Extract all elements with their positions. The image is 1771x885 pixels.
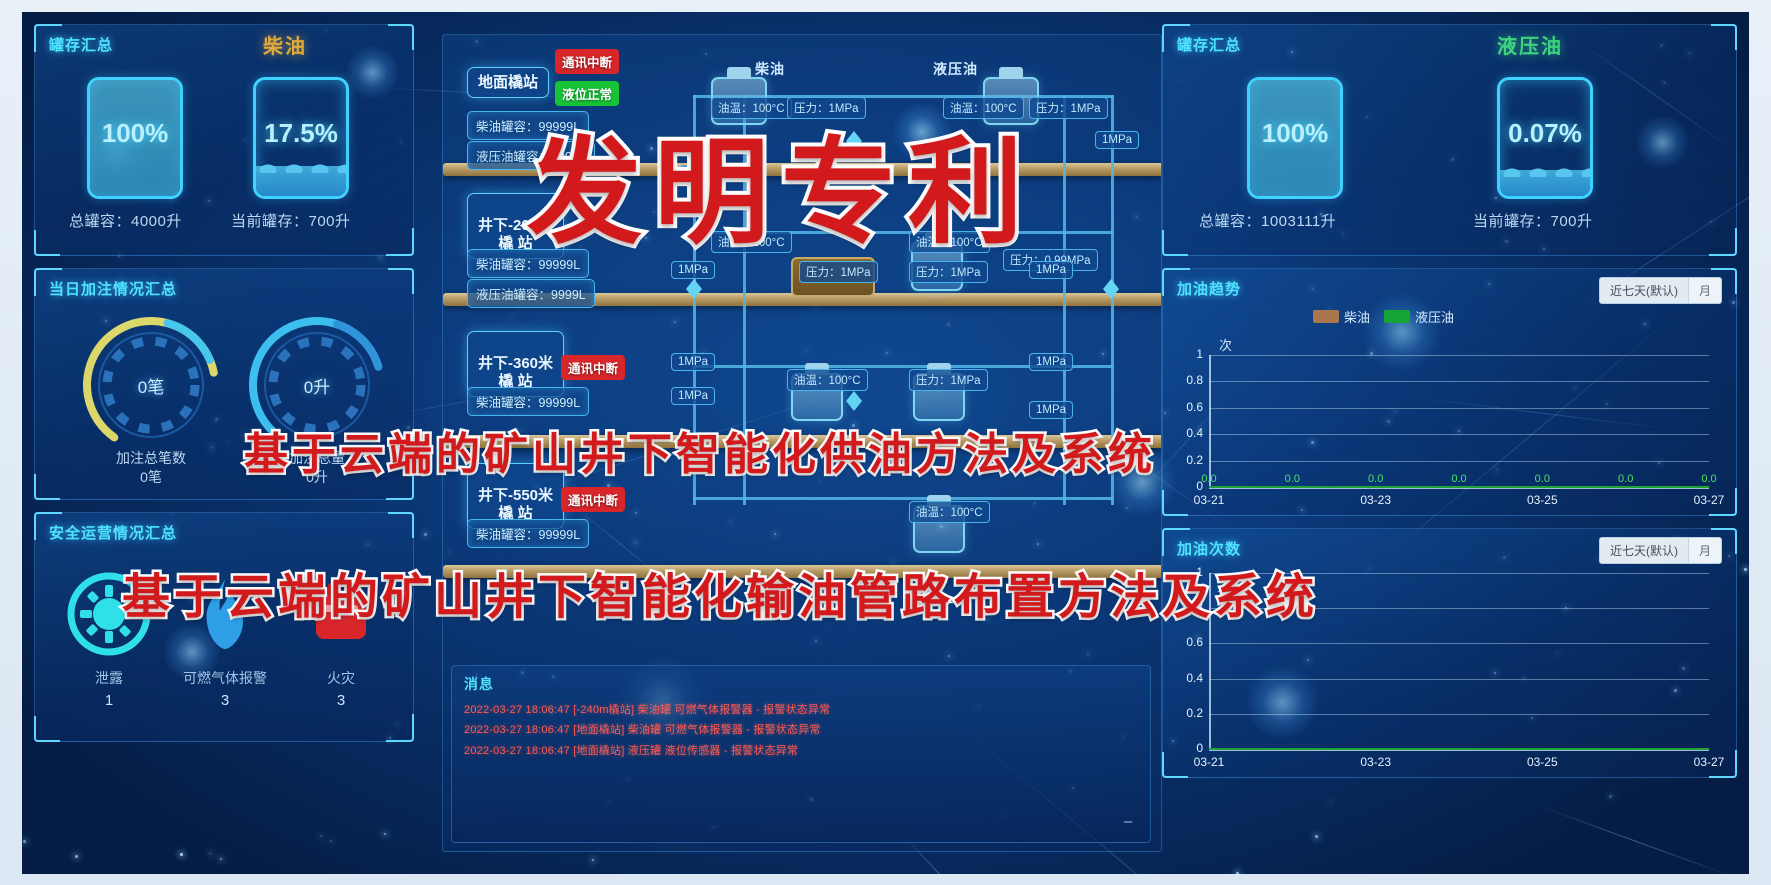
- chart-gridline: [1209, 714, 1709, 715]
- message-log-title: 消息: [464, 674, 1138, 694]
- station-badge-550m-comms: 通讯中断: [561, 487, 625, 512]
- chart-gridline: [1209, 355, 1709, 356]
- gauge-caption-daily-count: 加注总笔数 0笔: [66, 449, 236, 487]
- station-badge-surface-comms: 通讯中断: [555, 49, 619, 74]
- pressure-tag: 1MPa: [671, 387, 715, 405]
- pressure-tag-text: 1MPa: [1102, 134, 1132, 146]
- legend-entry-hydraulic: 液压油: [1384, 307, 1454, 326]
- dashboard-root: 罐存汇总 柴油 100% 总罐容：4000升 17.5% 当前罐存：700升 当…: [22, 12, 1749, 874]
- message-log-row: 2022-03-27 18:06:47 [-240m橇站] 柴油罐 可燃气体报警…: [464, 700, 1138, 720]
- vessel-tag: 油温：100°C: [909, 501, 990, 523]
- chart-point-label: 0.0: [1276, 473, 1308, 485]
- station-badge-surface-comms-text: 通讯中断: [562, 56, 612, 70]
- tank-percent-total-right: 100%: [1250, 118, 1340, 149]
- panel-tank-summary-diesel: 罐存汇总 柴油 100% 总罐容：4000升 17.5% 当前罐存：700升: [34, 24, 414, 256]
- panel-title-safety: 安全运营情况汇总: [49, 522, 177, 543]
- panel-title-tank-summary-left: 罐存汇总: [49, 34, 113, 55]
- chart-legend-trend: 柴油 液压油: [1313, 307, 1454, 326]
- safety-label-gas-alarm: 可燃气体报警: [165, 668, 285, 688]
- vessel-tag-text: 压力：1MPa: [1036, 103, 1101, 115]
- chart-series-line: [1209, 748, 1709, 750]
- chart-x-tick-label: 03-21: [1183, 755, 1235, 769]
- tank-caption-total-left: 总罐容：4000升: [69, 210, 182, 231]
- vessel-cap: [727, 67, 751, 79]
- station-badge-360m-comms-text: 通讯中断: [568, 362, 618, 376]
- range-button-month-count[interactable]: 月: [1688, 538, 1721, 563]
- panel-safety-summary: 安全运营情况汇总 泄露 1: [34, 512, 414, 742]
- safety-label-leak: 泄露: [49, 668, 169, 688]
- gauge-daily-count: 0笔: [77, 311, 225, 459]
- station-name-surface-text: 地面橇站: [478, 74, 538, 91]
- station-readout-200m-hydraulic-text: 液压油罐容：9999L: [476, 288, 586, 302]
- chart-point-label: 0.0: [1610, 473, 1642, 485]
- chart-y-tick-label: 0.6: [1171, 400, 1203, 414]
- chart-y-tick-label: 0.8: [1171, 373, 1203, 387]
- panel-product-label-hydraulic: 液压油: [1497, 30, 1563, 59]
- chart-point-label: 0.0: [1443, 473, 1475, 485]
- tank-caption-total-right: 总罐容：1003111升: [1199, 210, 1336, 231]
- chart-y-tick-label: 0.2: [1171, 706, 1203, 720]
- range-button-seven-days-trend[interactable]: 近七天(默认): [1600, 278, 1688, 303]
- panel-title-refuel-count: 加油次数: [1177, 538, 1241, 559]
- legend-label-hydraulic: 液压油: [1415, 310, 1454, 325]
- pressure-tag-text: 1MPa: [1036, 404, 1066, 416]
- chart-x-tick-label: 03-25: [1516, 493, 1568, 507]
- station-badge-550m-comms-text: 通讯中断: [568, 494, 618, 508]
- gauge-caption-daily-count-line2: 0笔: [140, 469, 162, 485]
- screen-frame: 罐存汇总 柴油 100% 总罐容：4000升 17.5% 当前罐存：700升 当…: [0, 0, 1771, 885]
- chart-plot-area-trend: 00.20.40.60.810.003-210.00.003-230.00.00…: [1209, 355, 1709, 487]
- watermark-main: 发明专利: [527, 100, 1035, 266]
- watermark-patent-title-2: 基于云端的矿山井下智能化输油管路布置方法及系统: [122, 557, 1318, 627]
- pressure-tag: 1MPa: [1029, 261, 1073, 279]
- range-button-month-trend[interactable]: 月: [1688, 278, 1721, 303]
- gauge-value-daily-count: 0笔: [77, 373, 225, 398]
- chart-point-label: 0.0: [1360, 473, 1392, 485]
- range-selector-trend[interactable]: 近七天(默认) 月: [1599, 277, 1722, 304]
- pressure-tag: 1MPa: [1095, 131, 1139, 149]
- vessel-tag: 压力：1MPa: [1029, 97, 1108, 119]
- station-name-360m-text: 井下-360米 橇 站: [478, 355, 553, 389]
- tank-percent-current-left: 17.5%: [256, 118, 346, 149]
- chart-x-tick-label: 03-27: [1683, 493, 1735, 507]
- message-log-row: 2022-03-27 18:06:47 [地面橇站] 柴油罐 可燃气体报警器 -…: [464, 720, 1138, 740]
- vessel-tag: 油温：100°C: [787, 369, 868, 391]
- panel-tank-summary-hydraulic: 罐存汇总 液压油 100% 总罐容：1003111升 0.07% 当前罐存：70…: [1162, 24, 1737, 256]
- vessel-tag-text: 压力：1MPa: [806, 267, 871, 279]
- tank-gauge-current-right: 0.07%: [1497, 77, 1593, 199]
- chart-gridline: [1209, 461, 1709, 462]
- station-badge-360m-comms: 通讯中断: [561, 355, 625, 380]
- pressure-tag-text: 1MPa: [1036, 264, 1066, 276]
- chart-gridline: [1209, 434, 1709, 435]
- chart-y-unit-trend: 次: [1219, 335, 1232, 354]
- pressure-tag: 1MPa: [671, 353, 715, 371]
- chart-point-label: 0.0: [1526, 473, 1558, 485]
- vessel-tag-text: 油温：100°C: [916, 507, 983, 519]
- tank-gauge-current-left: 17.5%: [253, 77, 349, 199]
- station-readout-550m-diesel-text: 柴油罐容：99999L: [476, 528, 580, 542]
- panel-product-label-diesel: 柴油: [263, 30, 307, 59]
- chart-x-tick-label: 03-25: [1516, 755, 1568, 769]
- vessel-tag-text: 压力：1MPa: [916, 267, 981, 279]
- range-selector-count[interactable]: 近七天(默认) 月: [1599, 537, 1722, 564]
- chart-y-tick-label: 0.4: [1171, 671, 1203, 685]
- panel-title-daily-fill: 当日加注情况汇总: [49, 278, 177, 299]
- tank-fill-current-right: [1500, 170, 1590, 196]
- safety-label-fire: 火灾: [281, 668, 401, 688]
- chart-point-label: 0.0: [1193, 473, 1225, 485]
- chart-x-tick-label: 03-27: [1683, 755, 1735, 769]
- watermark-patent-title-1: 基于云端的矿山井下智能化供油方法及系统: [244, 418, 1156, 482]
- station-readout-200m-hydraulic: 液压油罐容：9999L: [467, 279, 595, 308]
- chart-gridline: [1209, 408, 1709, 409]
- station-name-550m-text: 井下-550米 橇 站: [478, 487, 553, 521]
- chart-y-axis: [1209, 355, 1211, 487]
- station-readout-550m-diesel: 柴油罐容：99999L: [467, 519, 589, 548]
- legend-swatch-hydraulic: [1384, 310, 1410, 323]
- chart-y-tick-label: 0: [1171, 741, 1203, 755]
- pressure-tag: 1MPa: [1029, 401, 1073, 419]
- station-readout-360m-diesel: 柴油罐容：99999L: [467, 387, 589, 416]
- message-log-row: 2022-03-27 18:06:47 [地面橇站] 液压罐 液位传感器 - 报…: [464, 741, 1138, 761]
- chart-y-tick-label: 1: [1171, 347, 1203, 361]
- tank-gauge-total-left: 100%: [87, 77, 183, 199]
- tank-fill-current-left: [256, 166, 346, 196]
- pressure-tag-text: 1MPa: [1036, 356, 1066, 368]
- tank-wave-current-right: [1500, 163, 1593, 177]
- station-name-surface[interactable]: 地面橇站: [467, 67, 549, 98]
- tank-caption-current-left: 当前罐存：700升: [231, 210, 351, 231]
- tank-caption-current-right: 当前罐存：700升: [1473, 210, 1593, 231]
- diagram-product-label-hydraulic: 液压油: [933, 59, 978, 79]
- chart-x-tick-label: 03-23: [1350, 493, 1402, 507]
- chart-gridline: [1209, 381, 1709, 382]
- chart-gridline: [1209, 643, 1709, 644]
- message-log-panel: 消息 2022-03-27 18:06:47 [-240m橇站] 柴油罐 可燃气…: [451, 665, 1151, 843]
- chart-gridline: [1209, 679, 1709, 680]
- panel-title-tank-summary-right: 罐存汇总: [1177, 34, 1241, 55]
- station-readout-360m-diesel-text: 柴油罐容：99999L: [476, 396, 580, 410]
- diagram-product-label-diesel: 柴油: [755, 59, 785, 79]
- gauge-caption-daily-count-line1: 加注总笔数: [116, 450, 186, 466]
- legend-entry-diesel: 柴油: [1313, 307, 1370, 326]
- pipe-segment: [693, 497, 1113, 500]
- chart-x-tick-label: 03-23: [1350, 755, 1402, 769]
- legend-swatch-diesel: [1313, 310, 1339, 323]
- vessel-tag-text: 油温：100°C: [794, 375, 861, 387]
- panel-refuel-trend-chart: 加油趋势 近七天(默认) 月 柴油 液压油 次 00.20.40.60.810.…: [1162, 268, 1737, 516]
- tank-wave-current-left: [256, 159, 349, 173]
- tank-percent-current-right: 0.07%: [1500, 118, 1590, 149]
- safety-value-fire: 3: [281, 692, 401, 709]
- chart-x-tick-label: 03-21: [1183, 493, 1235, 507]
- safety-value-gas-alarm: 3: [165, 692, 285, 709]
- vessel-tag: 压力：1MPa: [909, 369, 988, 391]
- vessel-cap: [999, 67, 1023, 79]
- tank-gauge-total-right: 100%: [1247, 77, 1343, 199]
- gauge-value-daily-volume: 0升: [243, 373, 391, 398]
- vessel-tag-text: 压力：1MPa: [916, 375, 981, 387]
- chart-series-line: [1209, 486, 1709, 488]
- pressure-tag-text: 1MPa: [678, 390, 708, 402]
- chart-y-tick-label: 0.4: [1171, 426, 1203, 440]
- legend-label-diesel: 柴油: [1344, 310, 1370, 325]
- pressure-tag: 1MPa: [1029, 353, 1073, 371]
- collapse-messages-button[interactable]: –: [1120, 816, 1136, 832]
- panel-title-refuel-trend: 加油趋势: [1177, 278, 1241, 299]
- chart-y-tick-label: 0.2: [1171, 453, 1203, 467]
- range-button-seven-days-count[interactable]: 近七天(默认): [1600, 538, 1688, 563]
- safety-value-leak: 1: [49, 692, 169, 709]
- tank-percent-total-left: 100%: [90, 118, 180, 149]
- chart-y-tick-label: 0.6: [1171, 635, 1203, 649]
- chart-point-label: 0.0: [1693, 473, 1725, 485]
- pressure-tag-text: 1MPa: [678, 356, 708, 368]
